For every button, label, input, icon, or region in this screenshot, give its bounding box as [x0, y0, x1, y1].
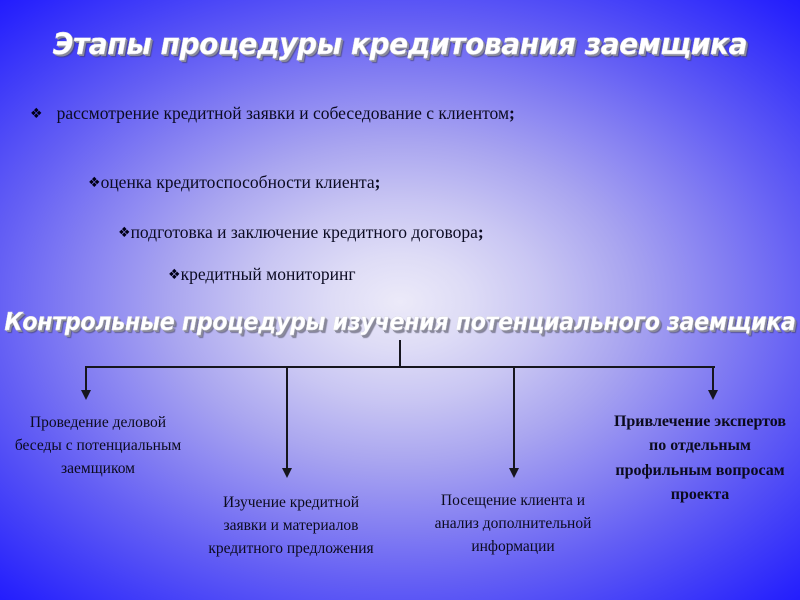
connector-branch-2 [286, 366, 288, 469]
list-item: ❖рассмотрение кредитной заявки и собесед… [30, 101, 590, 126]
list-item: ❖подготовка и заключение кредитного дого… [118, 220, 484, 245]
list-item-terminator: ; [478, 222, 484, 242]
arrow-down-icon-4 [708, 390, 718, 400]
section-heading: Контрольные процедуры изучения потенциал… [4, 307, 795, 336]
diamond-bullet-icon: ❖ [88, 175, 101, 191]
slide-canvas: Этапы процедуры кредитования заемщика ❖р… [0, 0, 800, 600]
diagram-node-3: Посещение клиента и анализ дополнительно… [418, 490, 608, 559]
list-item-label: подготовка и заключение кредитного догов… [131, 222, 478, 242]
diamond-bullet-icon: ❖ [168, 267, 181, 283]
list-item-label: кредитный мониторинг [181, 264, 356, 284]
page-title: Этапы процедуры кредитования заемщика [53, 27, 747, 61]
list-item-terminator: ; [509, 103, 515, 123]
diagram-node-4: Привлечение экспертов по отдельным профи… [606, 410, 794, 507]
list-item-terminator: ; [375, 172, 381, 192]
diamond-bullet-icon: ❖ [30, 106, 43, 122]
list-item: ❖кредитный мониторинг [168, 262, 356, 287]
list-item-label: рассмотрение кредитной заявки и собеседо… [57, 103, 509, 123]
connector-stem [399, 340, 401, 368]
connector-branch-1 [85, 366, 87, 391]
list-item: ❖оценка кредитоспособности клиента; [88, 170, 381, 195]
connector-branch-4 [712, 366, 714, 391]
connector-branch-3 [513, 366, 515, 469]
diagram-node-1: Проведение деловой беседы с потенциальны… [10, 412, 186, 481]
list-item-label: оценка кредитоспособности клиента [101, 172, 375, 192]
arrow-down-icon-2 [282, 468, 292, 478]
arrow-down-icon-1 [81, 390, 91, 400]
diamond-bullet-icon: ❖ [118, 225, 131, 241]
diagram-node-2: Изучение кредитной заявки и материалов к… [200, 492, 382, 561]
arrow-down-icon-3 [509, 468, 519, 478]
connector-horizontal-bar [86, 366, 715, 368]
